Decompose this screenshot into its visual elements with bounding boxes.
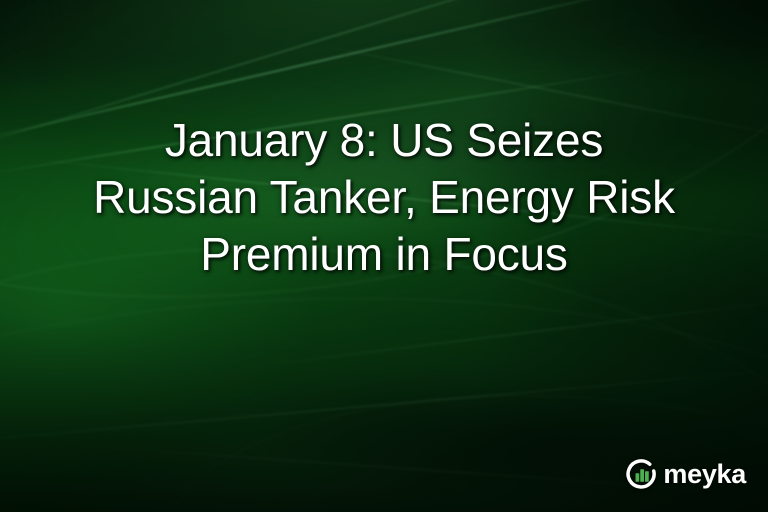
- logo-bar-right: [645, 471, 649, 482]
- meyka-circle-bars-icon: [626, 458, 658, 490]
- logo-bar-left: [636, 473, 640, 482]
- brand-wordmark: meyka: [663, 461, 746, 488]
- headline-line-3: Premium in Focus: [34, 226, 734, 283]
- logo-bar-center: [641, 469, 645, 482]
- brand-logo: meyka: [626, 458, 746, 490]
- headline: January 8: US Seizes Russian Tanker, Ene…: [0, 112, 768, 283]
- headline-line-2: Russian Tanker, Energy Risk: [34, 169, 734, 226]
- news-banner-card: January 8: US Seizes Russian Tanker, Ene…: [0, 0, 768, 512]
- headline-line-1: January 8: US Seizes: [34, 112, 734, 169]
